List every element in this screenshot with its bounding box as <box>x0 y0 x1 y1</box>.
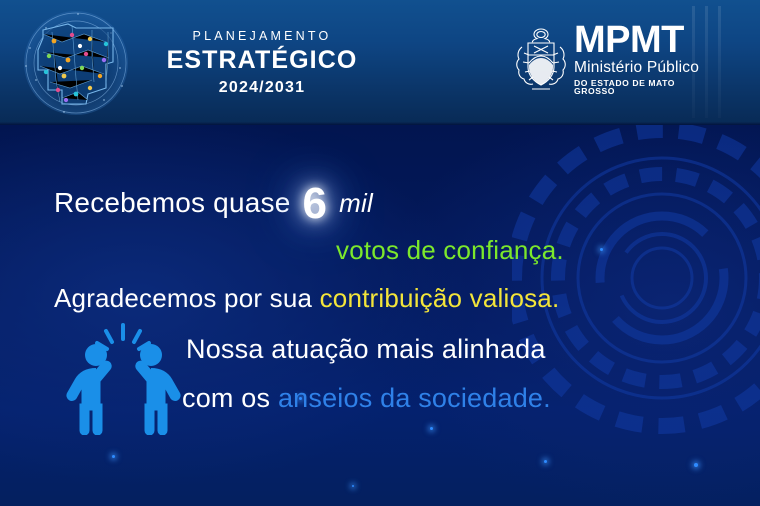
plan-title: ESTRATÉGICO <box>142 48 382 73</box>
mato-grosso-network-map-icon <box>16 8 136 118</box>
poster-canvas: PLANEJAMENTO ESTRATÉGICO 2024/2031 <box>0 0 760 506</box>
main-content: Recebemos quase 6 mil votos de confiança… <box>0 125 760 506</box>
line1-part-b: mil <box>339 188 373 218</box>
plan-kicker: PLANEJAMENTO <box>142 30 382 43</box>
message-line-3: Agradecemos por sua contribuição valiosa… <box>54 283 559 314</box>
strategic-plan-title-group: PLANEJAMENTO ESTRATÉGICO 2024/2031 <box>142 30 382 96</box>
message-line-2: votos de confiança. <box>336 235 564 266</box>
message-copy: Recebemos quase 6 mil votos de confiança… <box>0 125 760 506</box>
line5-part-a: com os <box>182 383 270 413</box>
plan-period: 2024/2031 <box>142 80 382 96</box>
line3-part-a: Agradecemos por sua <box>54 283 312 313</box>
mpmt-logo-group: MPMT Ministério Público DO ESTADO DE MAT… <box>512 22 712 104</box>
line3-highlight: contribuição valiosa. <box>320 283 560 313</box>
line5-highlight: anseios da sociedade. <box>278 383 551 413</box>
message-line-5: com os anseios da sociedade. <box>182 383 551 414</box>
message-line-4: Nossa atuação mais alinhada <box>186 334 546 365</box>
mpmt-coat-of-arms-icon <box>512 25 570 97</box>
header-vertical-lines-decoration <box>692 6 738 118</box>
message-line-1: Recebemos quase 6 mil <box>54 179 373 229</box>
line1-part-a: Recebemos quase <box>54 187 290 218</box>
header-band: PLANEJAMENTO ESTRATÉGICO 2024/2031 <box>0 0 760 125</box>
highlight-number-six: 6 <box>298 179 331 228</box>
two-people-high-five-icon <box>66 323 184 435</box>
